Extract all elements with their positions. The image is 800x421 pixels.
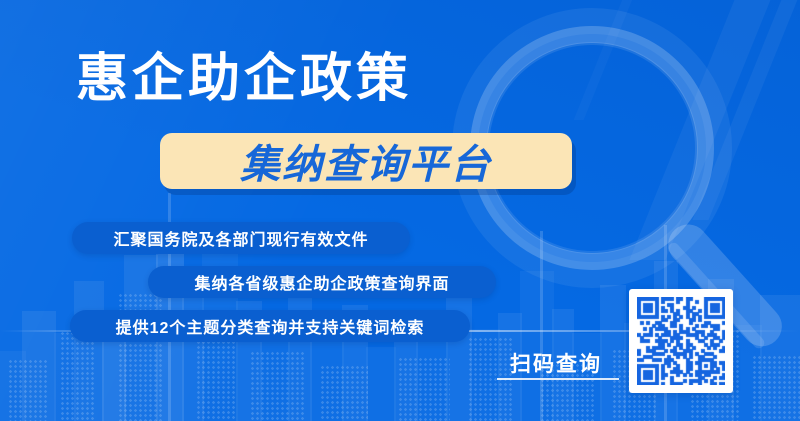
scan-label-underline: [497, 378, 619, 380]
qr-code-canvas: [637, 297, 725, 385]
feature-pill-3: 提供12个主题分类查询并支持关键词检索: [70, 310, 470, 342]
scan-label: 扫码查询: [510, 348, 602, 378]
page-title: 惠企助企政策: [76, 50, 412, 110]
subtitle-banner: 集纳查询平台: [160, 133, 572, 189]
subtitle-text: 集纳查询平台: [160, 133, 572, 189]
feature-pill-2: 集纳各省级惠企助企政策查询界面: [148, 266, 496, 298]
feature-pill-1: 汇聚国务院及各部门现行有效文件: [72, 222, 410, 254]
promo-banner: 惠企助企政策 集纳查询平台 汇聚国务院及各部门现行有效文件 集纳各省级惠企助企政…: [0, 0, 800, 421]
qr-code-icon[interactable]: [629, 289, 733, 393]
